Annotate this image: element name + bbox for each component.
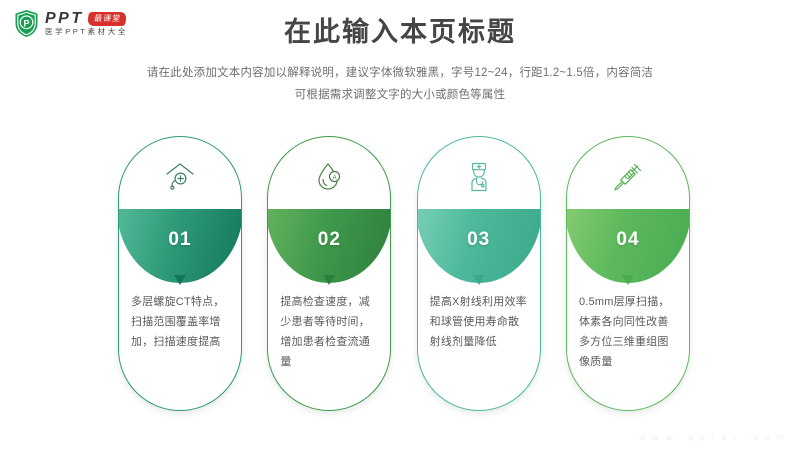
page-title: 在此输入本页标题: [0, 16, 800, 48]
band-pointer: [323, 275, 335, 285]
page-subtitle: 请在此处添加文本内容加以解释说明，建议字体微软雅黑，字号12~24，行距1.2~…: [100, 62, 700, 107]
info-card-01[interactable]: 01 多层螺旋CT特点，扫描范围覆盖率增加，扫描速度提高: [118, 136, 242, 411]
band-pointer: [622, 275, 634, 285]
card-number: 01: [118, 229, 242, 251]
blood-drop-type-a-icon: A: [267, 154, 391, 200]
syringe-icon: [566, 154, 690, 200]
card-number: 02: [267, 229, 391, 251]
card-body-text: 提高X射线利用效率和球管使用寿命散射线剂量降低: [430, 292, 528, 352]
band-pointer: [473, 275, 485, 285]
info-card-03[interactable]: 03 提高X射线利用效率和球管使用寿命散射线剂量降低: [417, 136, 541, 411]
doctor-nurse-icon: [417, 154, 541, 200]
card-number: 03: [417, 229, 541, 251]
card-row: 01 多层螺旋CT特点，扫描范围覆盖率增加，扫描速度提高 A 02 提高检查速度…: [118, 136, 690, 411]
card-number: 04: [566, 229, 690, 251]
svg-text:A: A: [333, 174, 338, 181]
clinic-house-stethoscope-icon: [118, 154, 242, 200]
info-card-04[interactable]: 04 0.5mm层厚扫描，体素各向同性改善多方位三维重组图像质量: [566, 136, 690, 411]
card-body-text: 提高检查速度，减少患者等待时间，增加患者检查流通量: [280, 292, 378, 372]
card-body-text: 多层螺旋CT特点，扫描范围覆盖率增加，扫描速度提高: [131, 292, 229, 352]
footer-watermark: w w w . p p t e r . c o m: [639, 433, 786, 442]
band-pointer: [174, 275, 186, 285]
subtitle-line-1: 请在此处添加文本内容加以解释说明，建议字体微软雅黑，字号12~24，行距1.2~…: [147, 67, 653, 79]
info-card-02[interactable]: A 02 提高检查速度，减少患者等待时间，增加患者检查流通量: [267, 136, 391, 411]
card-body-text: 0.5mm层厚扫描，体素各向同性改善多方位三维重组图像质量: [579, 292, 677, 372]
subtitle-line-2: 可根据需求调整文字的大小或颜色等属性: [295, 89, 506, 101]
